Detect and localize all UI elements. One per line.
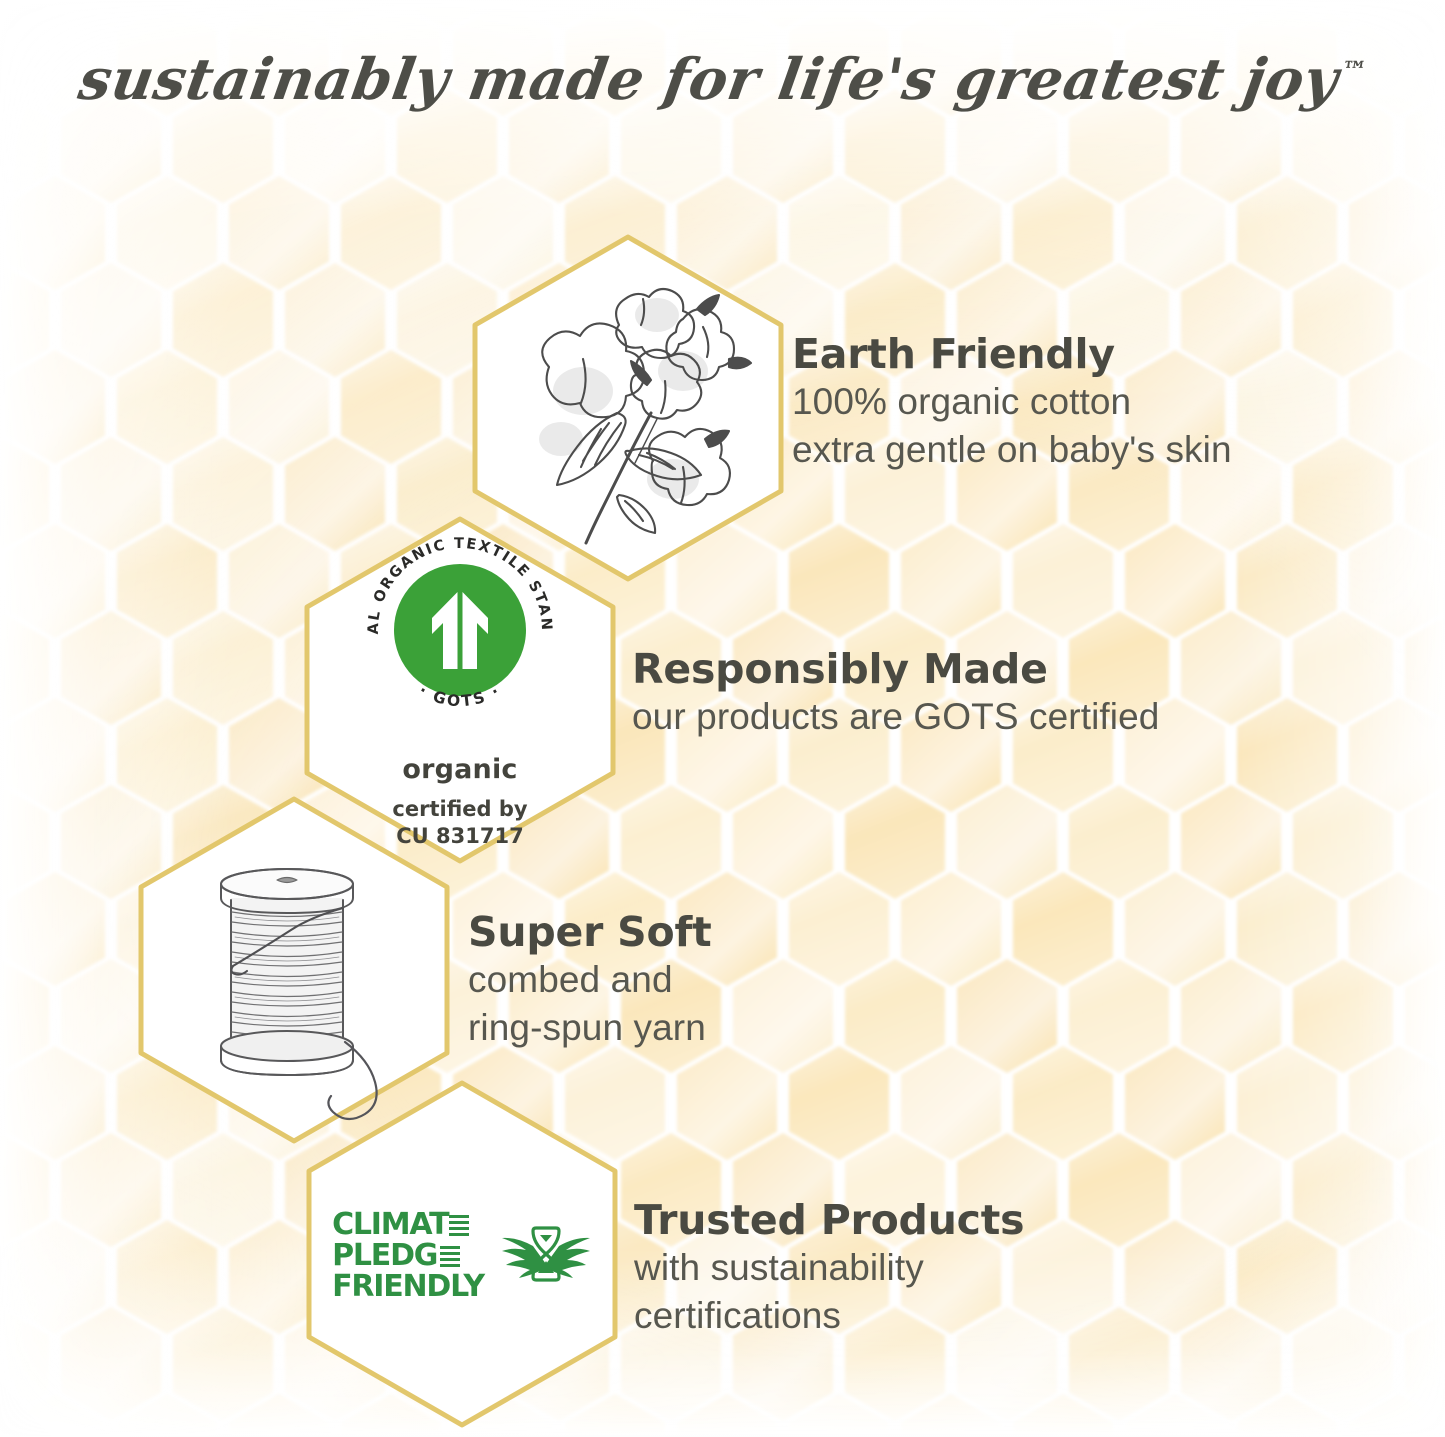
feature-subtitle-line-1: 100% organic cotton [792,378,1232,426]
feature-text-earth-friendly: Earth Friendly 100% organic cotton extra… [792,330,1232,474]
cpf-word-pledge: PLEDG [332,1241,437,1271]
cpf-bars-2 [440,1246,460,1267]
feature-title: Earth Friendly [792,330,1232,378]
feature-title: Trusted Products [634,1196,1024,1244]
feature-subtitle-line-1: combed and [468,956,712,1004]
cpf-bars-1 [449,1215,469,1236]
feature-subtitle-line-2: ring-spun yarn [468,1004,712,1052]
thread-spool-sketch-icon [185,846,411,1106]
gots-organic-label: organic [402,754,517,785]
feature-subtitle-line-1: with sustainability [634,1244,1024,1292]
page-tagline: sustainably made for life's greatest joy… [0,46,1445,113]
cpf-word-climate: CLIMAT [332,1210,448,1240]
feature-text-super-soft: Super Soft combed and ring-spun yarn [468,908,712,1052]
cpf-word-friendly: FRIENDLY [332,1272,484,1302]
feature-title: Responsibly Made [632,645,1159,693]
feature-card-trusted-products[interactable]: CLIMAT PLEDG FRIENDLY [304,1078,620,1430]
feature-subtitle-line-1: our products are GOTS certified [632,693,1159,741]
gots-green-circle [394,564,526,696]
feature-text-trusted-products: Trusted Products with sustainability cer… [634,1196,1024,1340]
feature-title: Super Soft [468,908,712,956]
tagline-text: sustainably made for life's greatest joy [74,46,1343,113]
feature-subtitle-line-2: certifications [634,1292,1024,1340]
feature-subtitle-line-2: extra gentle on baby's skin [792,426,1232,474]
climate-pledge-friendly-icon: CLIMAT PLEDG FRIENDLY [332,1210,592,1302]
winged-hourglass-icon [500,1218,592,1294]
trademark-symbol: ™ [1339,56,1369,85]
feature-text-responsibly-made: Responsibly Made our products are GOTS c… [632,645,1159,741]
cotton-plant-sketch-icon [497,263,759,553]
